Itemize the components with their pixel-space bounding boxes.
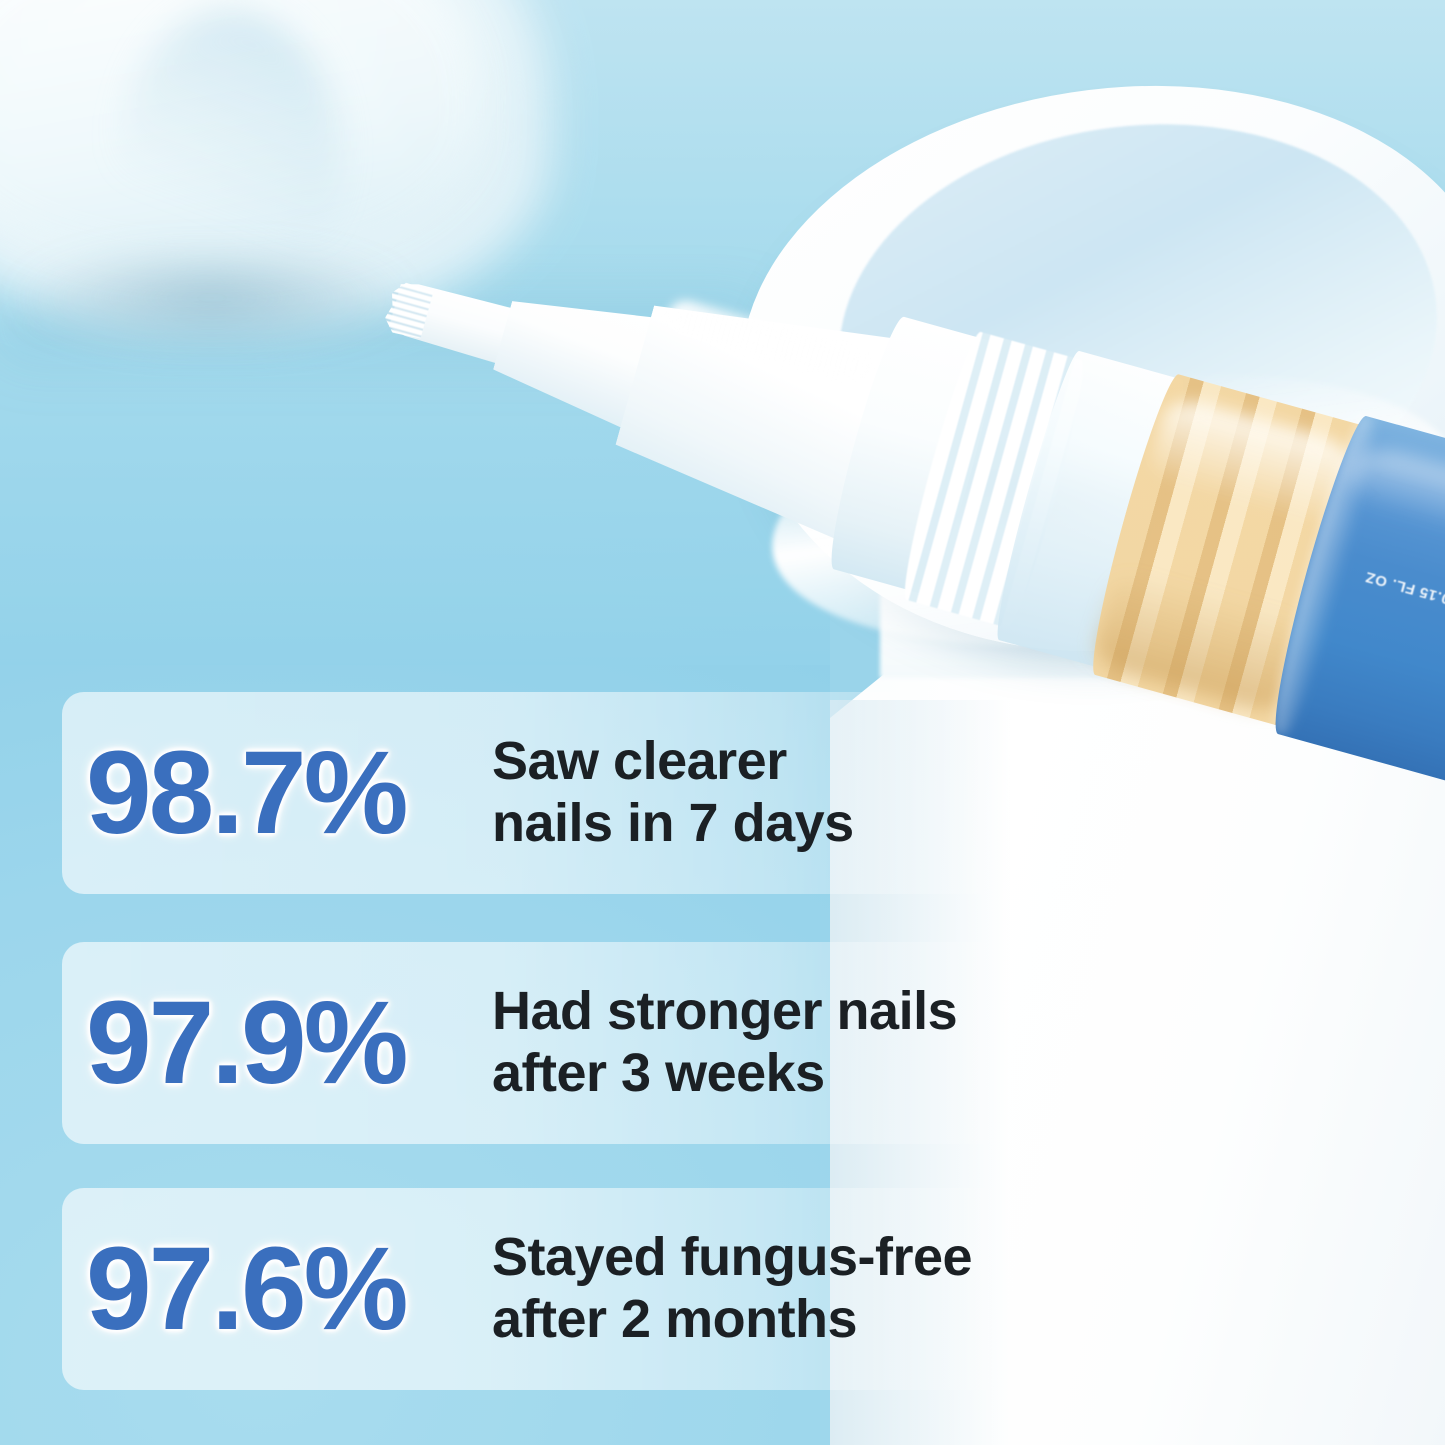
promo-image: 0.15 FL. OZ of the fungus teria and viru… — [0, 0, 1445, 1445]
stat-description: Stayed fungus-free after 2 months — [492, 1227, 1212, 1350]
stat-card: 97.6% Stayed fungus-free after 2 months — [62, 1188, 1212, 1390]
stat-description: Saw clearer nails in 7 days — [492, 731, 1212, 854]
stat-percentage: 97.9% — [62, 984, 492, 1102]
stat-card: 97.9% Had stronger nails after 3 weeks — [62, 942, 1212, 1144]
stat-percentage: 98.7% — [62, 734, 492, 852]
stat-description: Had stronger nails after 3 weeks — [492, 981, 1212, 1104]
stat-card-list: 98.7% Saw clearer nails in 7 days 97.9% … — [0, 0, 1445, 1445]
stat-percentage: 97.6% — [62, 1230, 492, 1348]
stat-card: 98.7% Saw clearer nails in 7 days — [62, 692, 1212, 894]
